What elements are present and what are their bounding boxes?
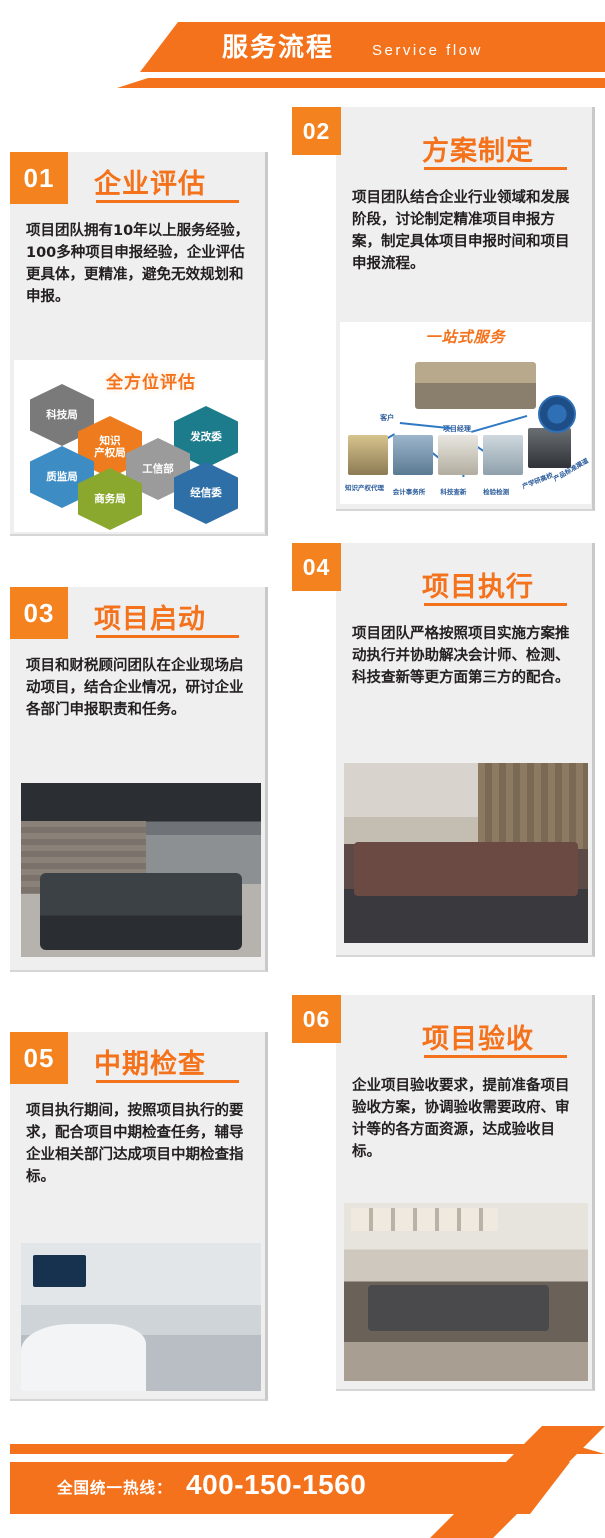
thumb-tech-search: [438, 435, 478, 475]
step-number-badge: 03: [10, 587, 68, 639]
arrow-line: [471, 415, 527, 433]
title-underline: [96, 635, 239, 638]
node-customer: 客户: [380, 413, 394, 423]
hex-label: 工信部: [142, 463, 174, 475]
card-title: 中期检查: [94, 1042, 206, 1081]
thumb-university-research: [528, 428, 571, 468]
card-title: 项目启动: [94, 597, 206, 636]
title-underline: [96, 1080, 239, 1083]
thumb-ip-agency: [348, 435, 388, 475]
card-title: 方案制定: [422, 129, 534, 168]
hex-label: 科技局: [46, 409, 78, 421]
caption-accounting-firm: 会计事务所: [393, 486, 426, 496]
step-card-06: 06 项目验收 企业项目验收要求，提前准备项目验收方案，协调验收需要政府、审计等…: [292, 995, 595, 1391]
one-stop-team-photo: [415, 362, 535, 409]
hex-label: 商务局: [94, 493, 126, 505]
card-body-text: 企业项目验收要求，提前准备项目验收方案，协调验收需要政府、审计等的各方面资源，达…: [352, 1075, 582, 1163]
hex-diagram-title: 全方位评估: [106, 368, 196, 393]
hotline-number[interactable]: 400-150-1560: [186, 1469, 366, 1501]
standard-seal-icon: [538, 395, 576, 433]
page-header: 服务流程 Service flow: [0, 0, 605, 112]
service-flow-infographic: 服务流程 Service flow 01 企业评估 项目团队拥有10年以上服务经…: [0, 0, 605, 1538]
photo-conference-room: [21, 783, 261, 957]
header-stripe-shape: [117, 78, 605, 88]
step-card-04: 04 项目执行 项目团队严格按照项目实施方案推动执行并协助解决会计师、检测、科技…: [292, 543, 595, 957]
assessment-hex-diagram: 全方位评估 科技局 知识 产权局 发改委 质监局 工信部 商务局 经信委: [14, 360, 264, 532]
caption-university-research: 产学研高校: [520, 469, 554, 490]
page-footer: 全国统一热线： 400-150-1560: [0, 1400, 605, 1538]
caption-inspection: 检验检测: [483, 486, 509, 496]
footer-stripe-shape: [10, 1444, 605, 1454]
step-number-badge: 04: [292, 543, 341, 591]
page-title: 服务流程: [222, 28, 334, 66]
hotline-label: 全国统一热线：: [57, 1476, 173, 1498]
card-title: 项目执行: [422, 565, 534, 604]
photo-site-visit: [21, 1243, 261, 1391]
step-number-badge: 02: [292, 107, 341, 155]
title-underline: [96, 200, 239, 203]
step-card-01: 01 企业评估 项目团队拥有10年以上服务经验，100多种项目申报经验，企业评估…: [10, 152, 268, 536]
step-card-03: 03 项目启动 项目和财税顾问团队在企业现场启动项目，结合企业情况，研讨企业各部…: [10, 587, 268, 972]
photo-meeting-laptops: [344, 763, 588, 943]
card-body-text: 项目团队严格按照项目实施方案推动执行并协助解决会计师、检测、科技查新等更方面第三…: [352, 623, 582, 689]
caption-ip-agency: 知识产权代理: [345, 482, 384, 492]
step-number-badge: 01: [10, 152, 68, 204]
thumb-accounting-firm: [393, 435, 433, 475]
hex-label: 质监局: [46, 471, 78, 483]
caption-tech-search: 科技查新: [440, 486, 466, 496]
card-body-text: 项目和财税顾问团队在企业现场启动项目，结合企业情况，研讨企业各部门申报职责和任务…: [26, 655, 256, 721]
card-body-text: 项目团队结合企业行业领域和发展阶段，讨论制定精准项目申报方案，制定具体项目申报时…: [352, 187, 582, 275]
title-underline: [424, 603, 567, 606]
step-number-badge: 06: [292, 995, 341, 1043]
card-body-text: 项目团队拥有10年以上服务经验，100多种项目申报经验，企业评估更具体，更精准，…: [26, 220, 256, 308]
card-body-text: 项目执行期间，按照项目执行的要求，配合项目中期检查任务，辅导企业相关部门达成项目…: [26, 1100, 256, 1188]
step-card-05: 05 中期检查 项目执行期间，按照项目执行的要求，配合项目中期检查任务，辅导企业…: [10, 1032, 268, 1401]
step-number-badge: 05: [10, 1032, 68, 1084]
photo-big-conference: [344, 1203, 588, 1381]
hex-label: 经信委: [190, 487, 222, 499]
hex-label: 发改委: [190, 431, 222, 443]
step-card-02: 02 方案制定 项目团队结合企业行业领域和发展阶段，讨论制定精准项目申报方案，制…: [292, 107, 595, 511]
hex-label: 知识 产权局: [94, 435, 126, 459]
thumb-inspection: [483, 435, 523, 475]
card-title: 企业评估: [94, 162, 206, 201]
title-underline: [424, 1055, 567, 1058]
one-stop-service-diagram: 一站式服务 客户 项目经理 知识产权代理 会计事务所 科技查新 检验检测 产学研…: [340, 322, 591, 504]
page-subtitle: Service flow: [372, 36, 483, 66]
one-stop-title: 一站式服务: [340, 326, 591, 347]
card-title: 项目验收: [422, 1017, 534, 1056]
title-underline: [424, 167, 567, 170]
